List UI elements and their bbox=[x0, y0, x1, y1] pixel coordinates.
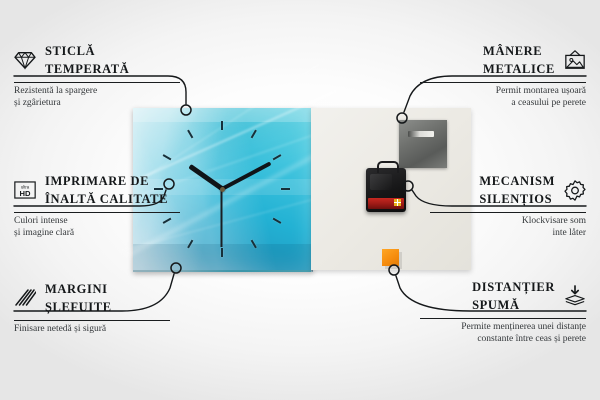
feature-subtitle-line1: Permite menținerea unei distanțe bbox=[420, 322, 586, 334]
feature-title-line1: MARGINI bbox=[45, 282, 108, 296]
hanger-slot bbox=[408, 131, 434, 137]
svg-text:HD: HD bbox=[20, 189, 31, 198]
feature-title-line2: METALICE bbox=[483, 62, 555, 76]
feature-subtitle-line1: Klockvisare som bbox=[430, 216, 586, 228]
feature-subtitle-line1: Rezistentă la spargere bbox=[14, 86, 180, 98]
feature-subtitle-line1: Permit montarea ușoară bbox=[420, 86, 586, 98]
feature-title-line1: DISTANȚIER bbox=[472, 280, 555, 294]
battery-plus-marker bbox=[394, 199, 401, 206]
feature-title: STICLĂ TEMPERATĂ bbox=[45, 42, 129, 78]
feature-rule bbox=[14, 82, 180, 83]
gear-icon bbox=[564, 179, 586, 201]
feature-subtitle-line2: și zgârietura bbox=[14, 98, 180, 110]
feature-subtitle-line2: și imagine clară bbox=[14, 228, 180, 240]
feature-title-line1: MÂNERE bbox=[483, 44, 542, 58]
feature-title-line1: MECANISM bbox=[479, 174, 555, 188]
quartz-mechanism bbox=[366, 168, 406, 212]
feature-header: MECANISM SILENȚIOS bbox=[430, 172, 586, 208]
feature-header: DISTANȚIER SPUMĂ bbox=[420, 278, 586, 314]
feature-title-line1: IMPRIMARE DE bbox=[45, 174, 149, 188]
polished-edges-icon bbox=[14, 287, 36, 309]
foam-spacer-arrow-icon bbox=[564, 285, 586, 307]
feature-metal-handles: MÂNERE METALICE Permit montarea ușoară a… bbox=[420, 42, 586, 109]
clock-center-pivot bbox=[220, 187, 225, 192]
feature-subtitle-line2: constante între ceas și perete bbox=[420, 334, 586, 346]
feature-subtitle-line2: a ceasului pe perete bbox=[420, 98, 586, 110]
wall-mount-picture-icon bbox=[564, 49, 586, 71]
feature-title: IMPRIMARE DE ÎNALTĂ CALITATE bbox=[45, 172, 168, 208]
mechanism-face bbox=[370, 174, 392, 190]
feature-rule bbox=[420, 318, 586, 319]
feature-title-line2: SPUMĂ bbox=[472, 298, 519, 312]
feature-title-line2: SILENȚIOS bbox=[479, 192, 552, 206]
metal-hanger-plate bbox=[399, 120, 447, 168]
feature-header: MÂNERE METALICE bbox=[420, 42, 586, 78]
feature-title: MARGINI ȘLEFUITE bbox=[45, 280, 112, 316]
feature-polished-edges: MARGINI ȘLEFUITE Finisare netedă și sigu… bbox=[14, 280, 170, 336]
diamond-icon bbox=[14, 49, 36, 71]
feature-subtitle-line1: Finisare netedă și sigură bbox=[14, 324, 170, 336]
feature-title-line2: ÎNALTĂ CALITATE bbox=[45, 192, 168, 206]
feature-silent-mechanism: MECANISM SILENȚIOS Klockvisare som inte … bbox=[430, 172, 586, 239]
feature-title-line2: TEMPERATĂ bbox=[45, 62, 129, 76]
infographic-canvas: STICLĂ TEMPERATĂ Rezistentă la spargere … bbox=[0, 0, 600, 400]
feature-rule bbox=[14, 212, 180, 213]
feature-header: STICLĂ TEMPERATĂ bbox=[14, 42, 180, 78]
feature-subtitle-line2: inte låter bbox=[430, 228, 586, 240]
mechanism-hanger-loop bbox=[377, 161, 399, 173]
feature-rule bbox=[420, 82, 586, 83]
feature-tempered-glass: STICLĂ TEMPERATĂ Rezistentă la spargere … bbox=[14, 42, 180, 109]
feature-rule bbox=[14, 320, 170, 321]
feature-header: MARGINI ȘLEFUITE bbox=[14, 280, 170, 316]
ultra-hd-icon: ultra HD bbox=[14, 179, 36, 201]
feature-high-quality-print: ultra HD IMPRIMARE DE ÎNALTĂ CALITATE Cu… bbox=[14, 172, 180, 239]
feature-title: MÂNERE METALICE bbox=[483, 42, 555, 78]
feature-title: MECANISM SILENȚIOS bbox=[479, 172, 555, 208]
feature-header: ultra HD IMPRIMARE DE ÎNALTĂ CALITATE bbox=[14, 172, 180, 208]
feature-rule bbox=[430, 212, 586, 213]
feature-title-line1: STICLĂ bbox=[45, 44, 95, 58]
orange-foam-spacer bbox=[382, 249, 399, 266]
feature-title-line2: ȘLEFUITE bbox=[45, 300, 112, 314]
feature-subtitle-line1: Culori intense bbox=[14, 216, 180, 228]
feature-foam-spacer: DISTANȚIER SPUMĂ Permite menținerea unei… bbox=[420, 278, 586, 345]
battery bbox=[368, 198, 404, 209]
clock-tick bbox=[221, 121, 223, 189]
clock-tick bbox=[222, 188, 290, 190]
feature-title: DISTANȚIER SPUMĂ bbox=[472, 278, 555, 314]
